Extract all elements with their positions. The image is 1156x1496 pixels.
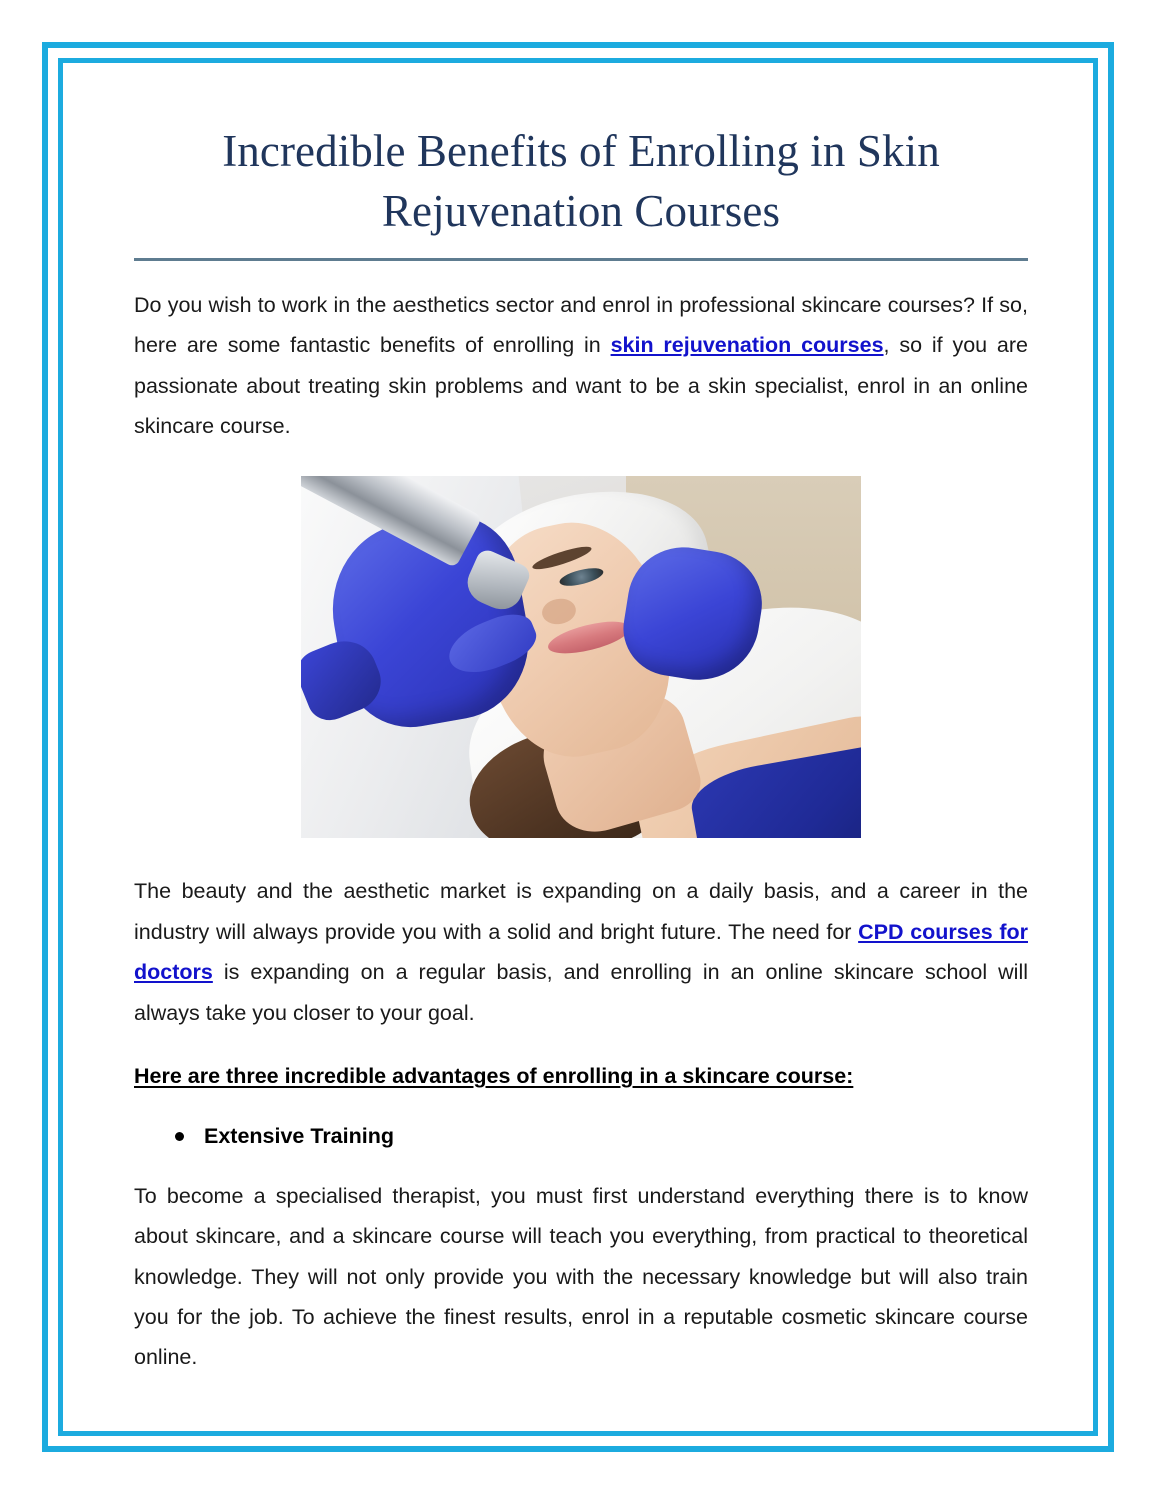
list-item-label: Extensive Training: [204, 1124, 394, 1148]
page-title: Incredible Benefits of Enrolling in Skin…: [134, 122, 1028, 248]
document-page: Incredible Benefits of Enrolling in Skin…: [0, 0, 1156, 1496]
list-item: Extensive Training: [134, 1119, 1028, 1153]
skin-treatment-photo: [301, 476, 861, 838]
link-skin-rejuvenation-courses[interactable]: skin rejuvenation courses: [611, 333, 884, 357]
paragraph-intro: Do you wish to work in the aesthetics se…: [134, 285, 1028, 447]
paragraph-market-text-after: is expanding on a regular basis, and enr…: [134, 960, 1028, 1024]
title-divider: [134, 258, 1028, 261]
advantages-list: Extensive Training: [134, 1119, 1028, 1153]
section-heading-advantages: Here are three incredible advantages of …: [134, 1059, 1028, 1093]
paragraph-market: The beauty and the aesthetic market is e…: [134, 871, 1028, 1033]
bullet-dot-icon: [175, 1132, 184, 1141]
document-content: Incredible Benefits of Enrolling in Skin…: [134, 122, 1028, 1378]
paragraph-extensive-training: To become a specialised therapist, you m…: [134, 1176, 1028, 1378]
figure-container: [134, 476, 1028, 843]
